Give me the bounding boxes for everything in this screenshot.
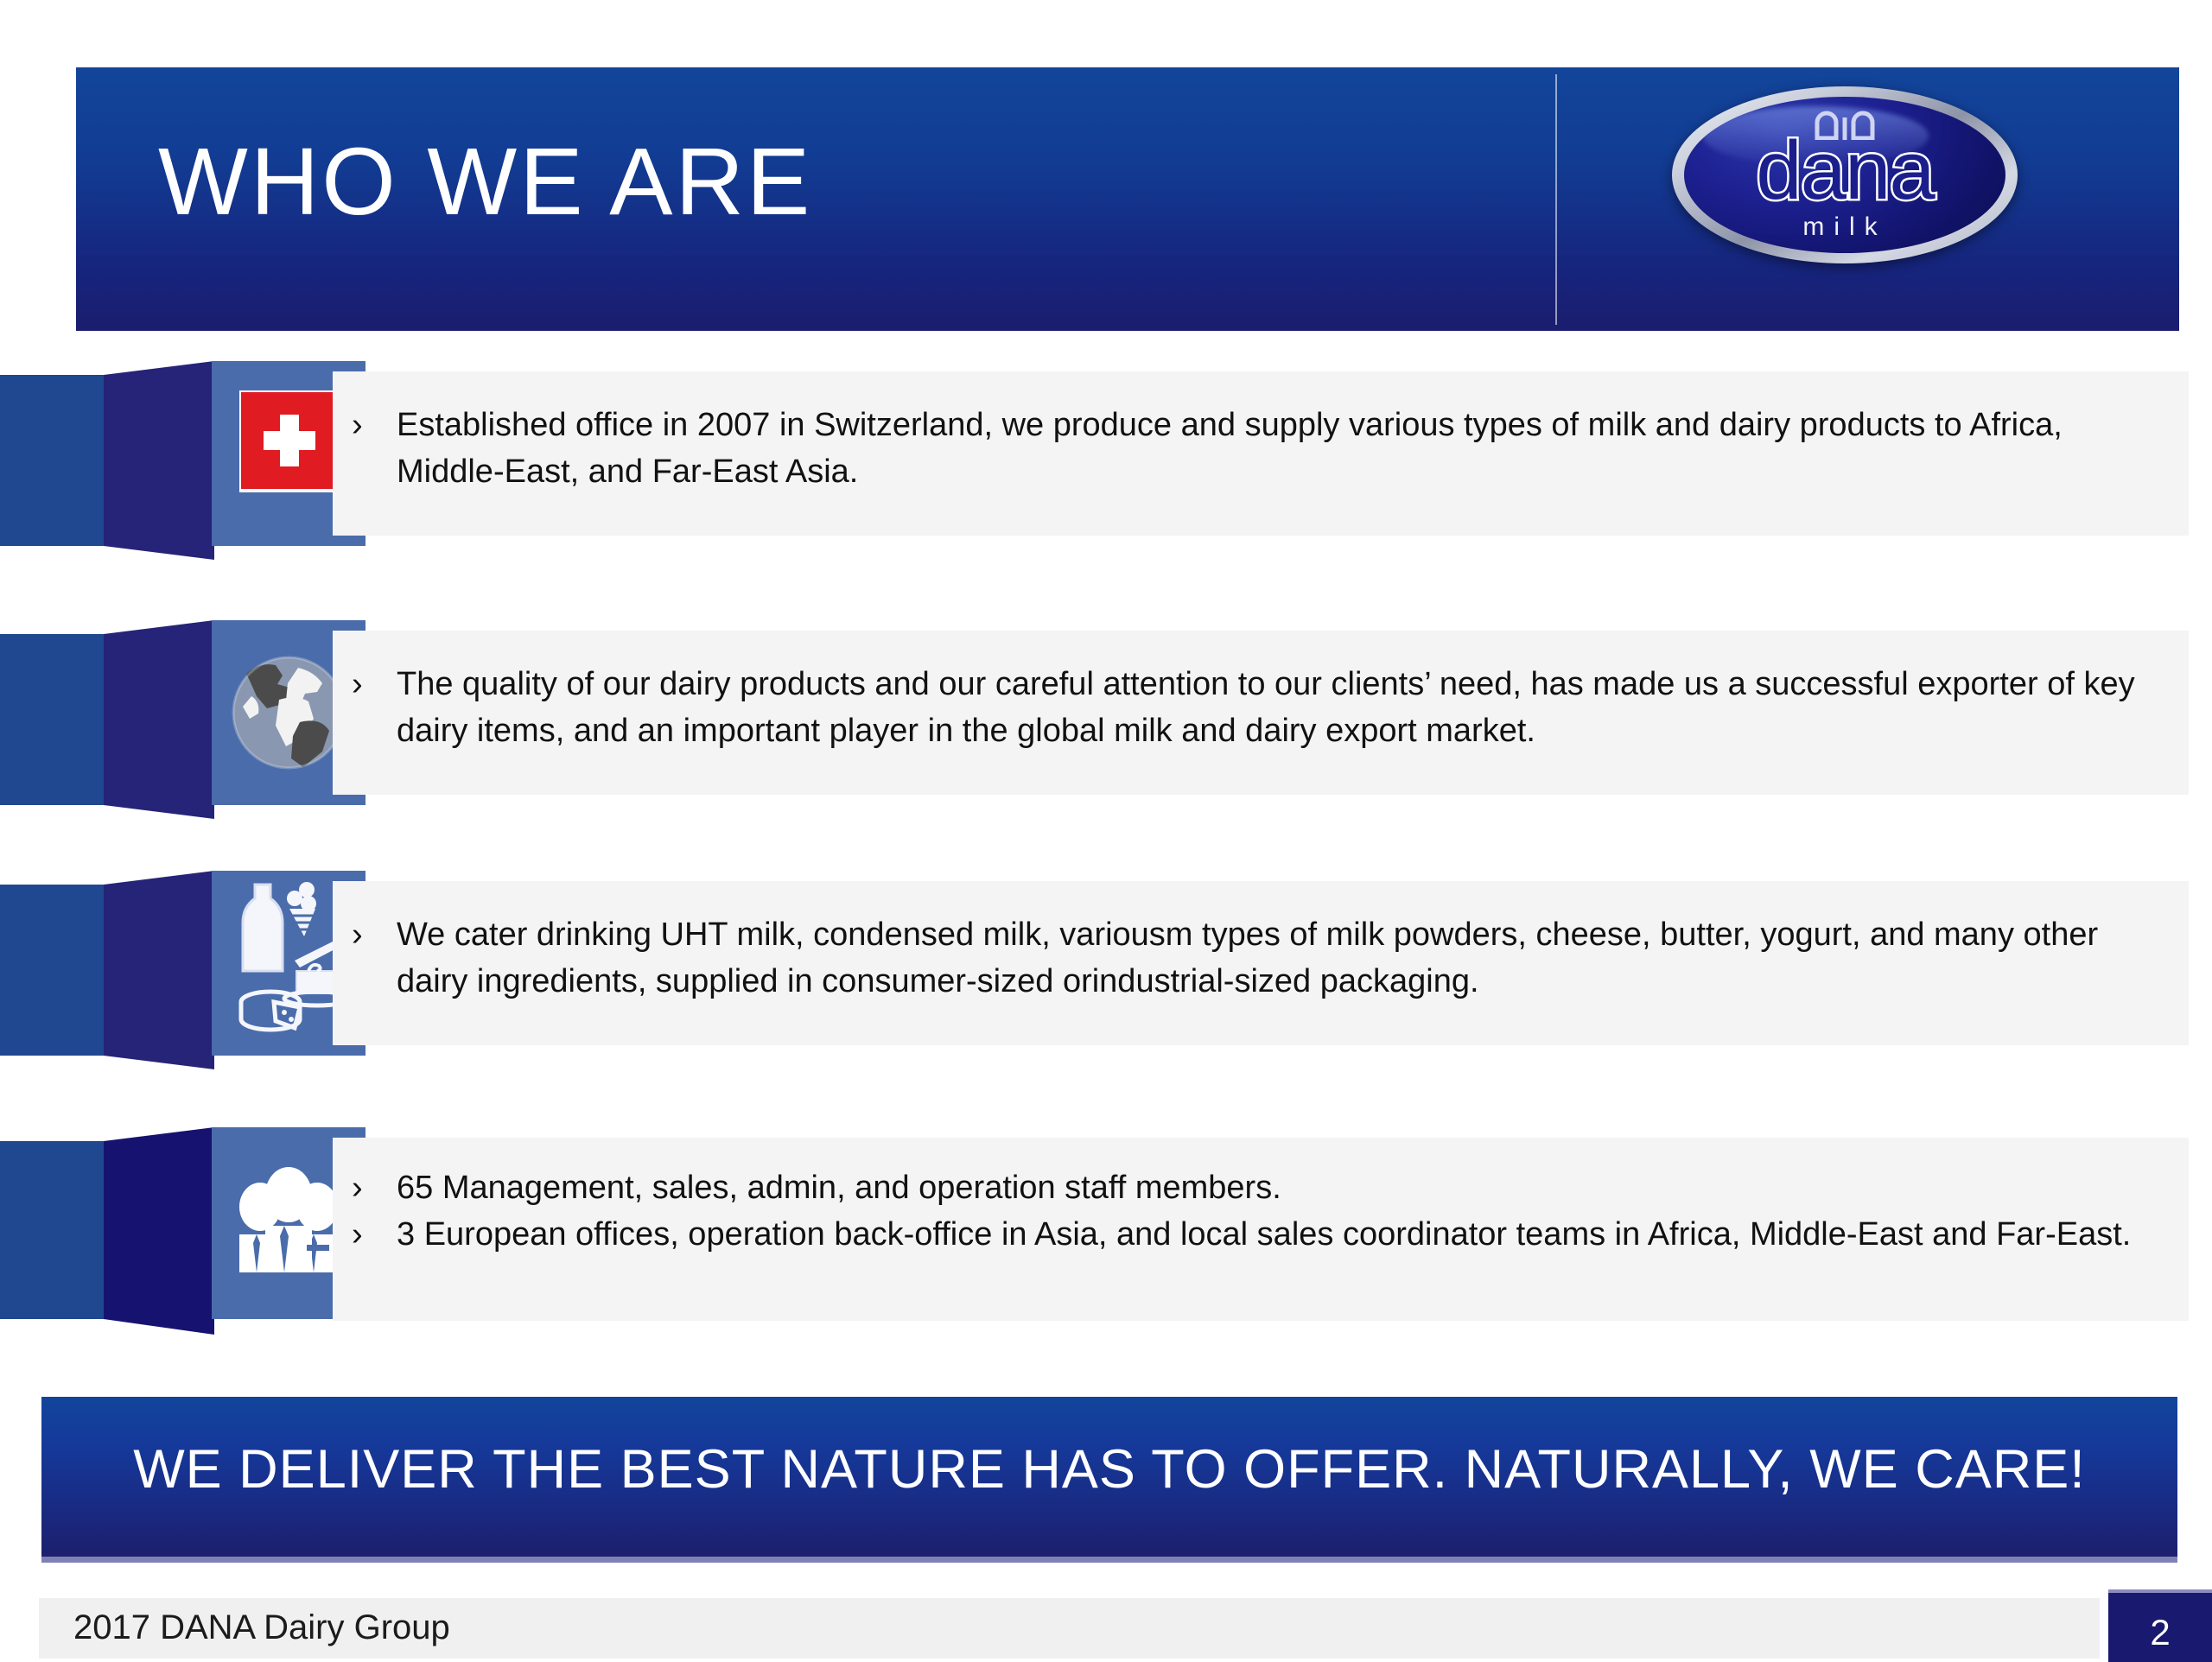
bullet-text: We cater drinking UHT milk, condensed mi… bbox=[397, 912, 2166, 1005]
footer-bar: 2017 DANA Dairy Group bbox=[39, 1598, 2100, 1659]
row-left-bar bbox=[0, 634, 105, 805]
content-row-team: › 65 Management, sales, admin, and opera… bbox=[0, 1127, 2212, 1335]
page-title: WHO WE ARE bbox=[158, 135, 812, 230]
row-bullet-list: › 65 Management, sales, admin, and opera… bbox=[352, 1165, 2166, 1259]
footer-credit: 2017 DANA Dairy Group bbox=[73, 1608, 450, 1647]
bullet-chevron-icon: › bbox=[352, 403, 397, 449]
bullet-text: 3 European offices, operation back-offic… bbox=[397, 1212, 2166, 1259]
page-number: 2 bbox=[2108, 1612, 2212, 1653]
row-text-panel: › Established office in 2007 in Switzerl… bbox=[333, 371, 2189, 536]
bullet-item: › 65 Management, sales, admin, and opera… bbox=[352, 1165, 2166, 1212]
bullet-chevron-icon: › bbox=[352, 1212, 397, 1259]
bullet-item: › Established office in 2007 in Switzerl… bbox=[352, 403, 2166, 496]
tagline-text: WE DELIVER THE BEST NATURE HAS TO OFFER.… bbox=[41, 1438, 2177, 1500]
bullet-item: › We cater drinking UHT milk, condensed … bbox=[352, 912, 2166, 1005]
row-text-panel: › We cater drinking UHT milk, condensed … bbox=[333, 881, 2189, 1045]
bullet-text: 65 Management, sales, admin, and operati… bbox=[397, 1165, 2166, 1212]
tagline-banner: WE DELIVER THE BEST NATURE HAS TO OFFER.… bbox=[41, 1397, 2177, 1557]
bullet-text: Established office in 2007 in Switzerlan… bbox=[397, 403, 2166, 496]
header-divider bbox=[1555, 74, 1557, 325]
dana-milk-logo: dana milk bbox=[1672, 86, 2018, 263]
row-wedge-shape bbox=[104, 620, 214, 819]
row-text-panel: › The quality of our dairy products and … bbox=[333, 631, 2189, 795]
tagline-underline bbox=[41, 1557, 2177, 1563]
logo-subtext: milk bbox=[1672, 213, 2018, 242]
row-left-bar bbox=[0, 375, 105, 546]
bullet-item: › The quality of our dairy products and … bbox=[352, 662, 2166, 755]
row-text-panel: › 65 Management, sales, admin, and opera… bbox=[333, 1138, 2189, 1321]
bullet-text: The quality of our dairy products and ou… bbox=[397, 662, 2166, 755]
content-row-product-range: › We cater drinking UHT milk, condensed … bbox=[0, 871, 2212, 1069]
row-left-bar bbox=[0, 1141, 105, 1319]
page-number-box: 2 bbox=[2108, 1589, 2212, 1662]
content-row-switzerland: › Established office in 2007 in Switzerl… bbox=[0, 361, 2212, 560]
content-row-global-market: › The quality of our dairy products and … bbox=[0, 620, 2212, 819]
logo-wordmark: dana bbox=[1672, 131, 2018, 210]
row-wedge-shape bbox=[104, 1127, 214, 1335]
bullet-chevron-icon: › bbox=[352, 912, 397, 959]
row-wedge-shape bbox=[104, 361, 214, 560]
bullet-chevron-icon: › bbox=[352, 1165, 397, 1212]
row-bullet-list: › Established office in 2007 in Switzerl… bbox=[352, 403, 2166, 496]
bullet-chevron-icon: › bbox=[352, 662, 397, 708]
bullet-item: › 3 European offices, operation back-off… bbox=[352, 1212, 2166, 1259]
row-bullet-list: › We cater drinking UHT milk, condensed … bbox=[352, 912, 2166, 1005]
row-left-bar bbox=[0, 885, 105, 1056]
row-bullet-list: › The quality of our dairy products and … bbox=[352, 662, 2166, 755]
row-wedge-shape bbox=[104, 871, 214, 1069]
